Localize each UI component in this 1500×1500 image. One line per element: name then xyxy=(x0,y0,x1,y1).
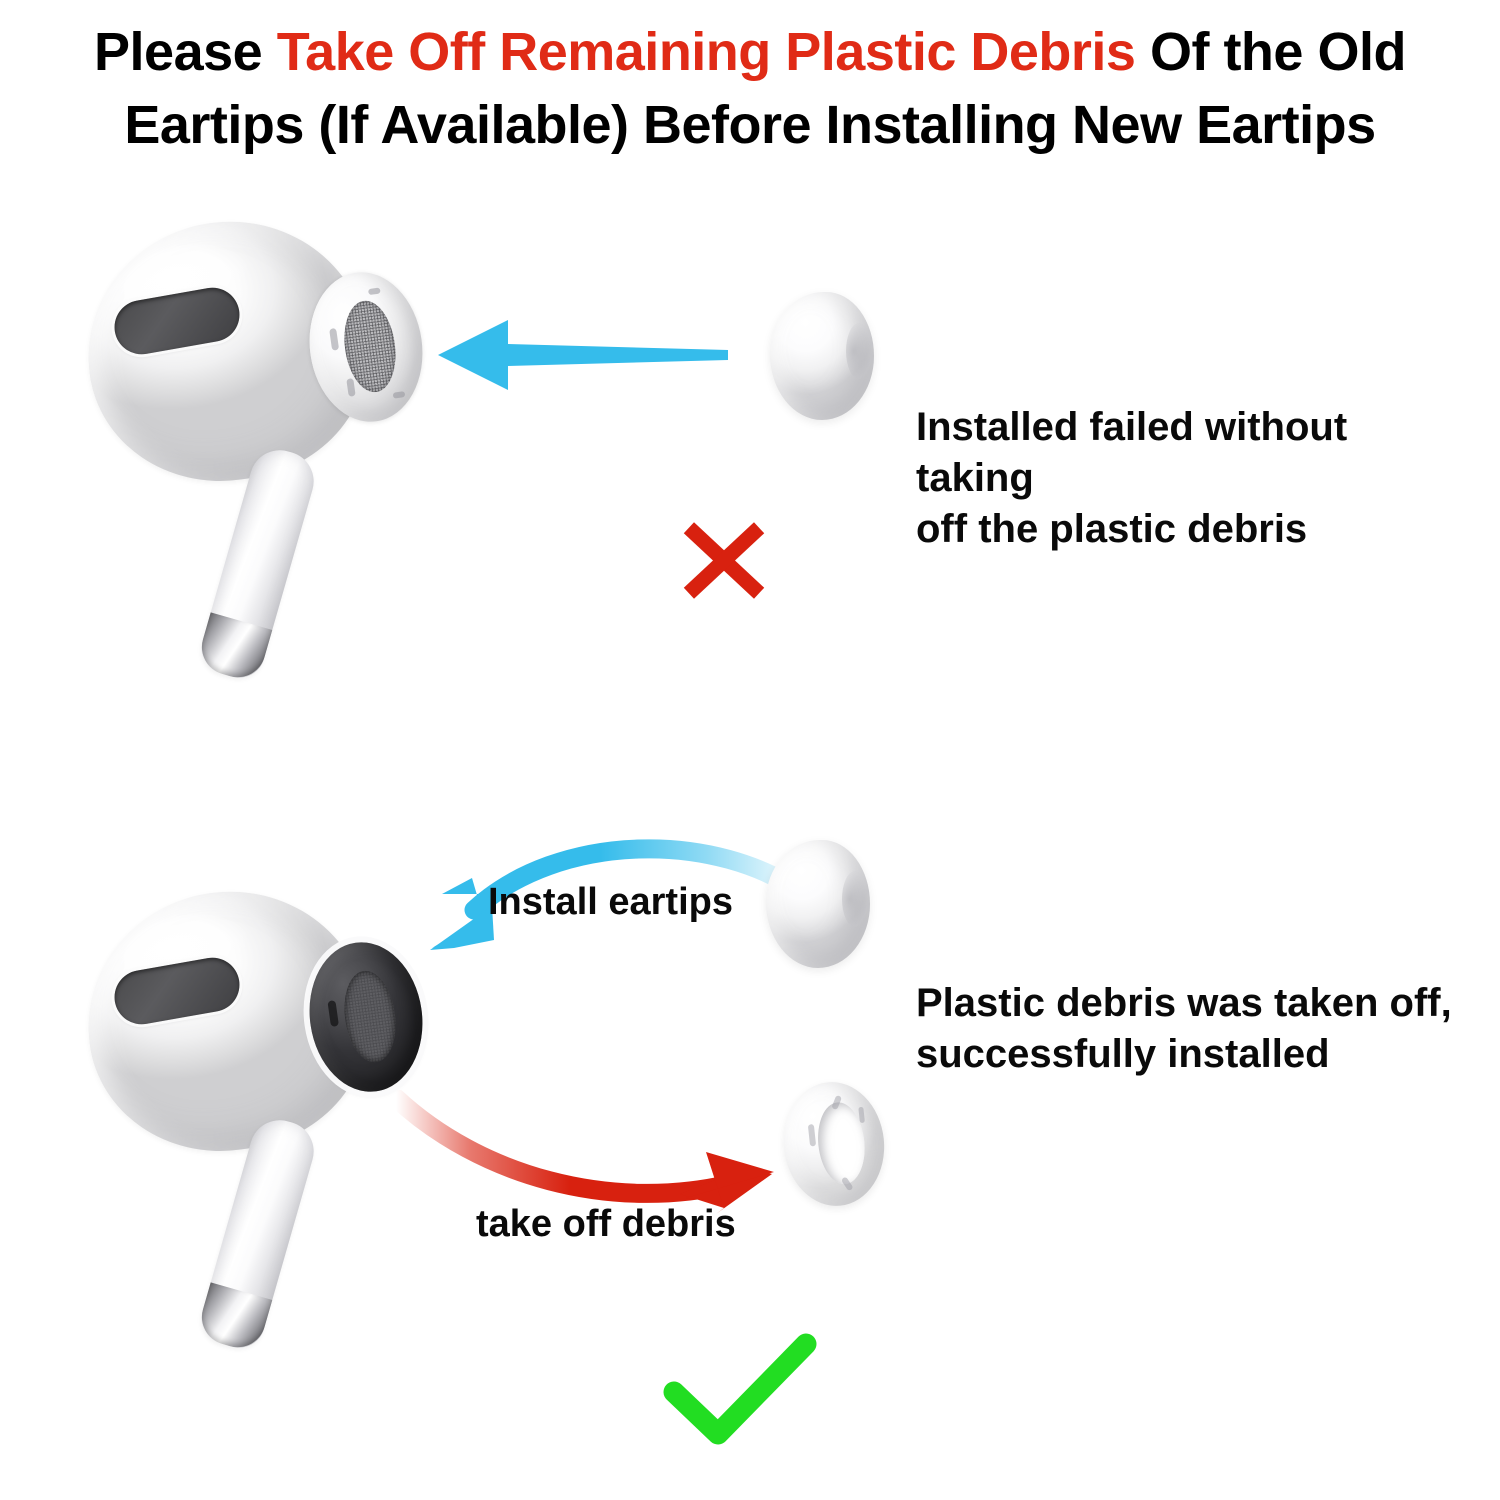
green-check-icon xyxy=(656,1330,826,1450)
nozzle-slot xyxy=(346,378,355,397)
nozzle-slot xyxy=(368,287,381,295)
caption-correct: Plastic debris was taken off, successful… xyxy=(916,978,1476,1080)
debris-ring-slot xyxy=(808,1124,816,1147)
label-install-eartips: Install eartips xyxy=(488,878,733,927)
title-lead: Please xyxy=(94,22,277,82)
instruction-diagram-page: Please Take Off Remaining Plastic Debris… xyxy=(0,0,1500,1500)
eartip-incorrect xyxy=(770,292,874,420)
title-line-two: Eartips (If Available) Before Installing… xyxy=(124,95,1375,155)
nozzle-slot xyxy=(327,1000,339,1027)
title-tail: Of the Old xyxy=(1135,22,1406,82)
page-title: Please Take Off Remaining Plastic Debris… xyxy=(0,16,1500,162)
eartip-correct xyxy=(766,840,870,968)
title-emphasis: Take Off Remaining Plastic Debris xyxy=(277,22,1136,82)
caption-incorrect: Installed failed without taking off the … xyxy=(916,402,1476,556)
nozzle-slot xyxy=(329,328,339,351)
airpod-stem-metal-tip xyxy=(195,612,272,683)
nozzle-mesh-grille xyxy=(339,967,401,1065)
label-take-off-debris: take off debris xyxy=(476,1200,736,1249)
debris-ring-slot xyxy=(858,1107,865,1123)
airpod-pro-incorrect xyxy=(88,222,488,702)
blue-install-arrow-straight xyxy=(438,300,728,410)
airpod-stem-metal-tip xyxy=(195,1282,272,1353)
nozzle-slot xyxy=(393,391,406,399)
red-x-icon xyxy=(676,514,772,606)
